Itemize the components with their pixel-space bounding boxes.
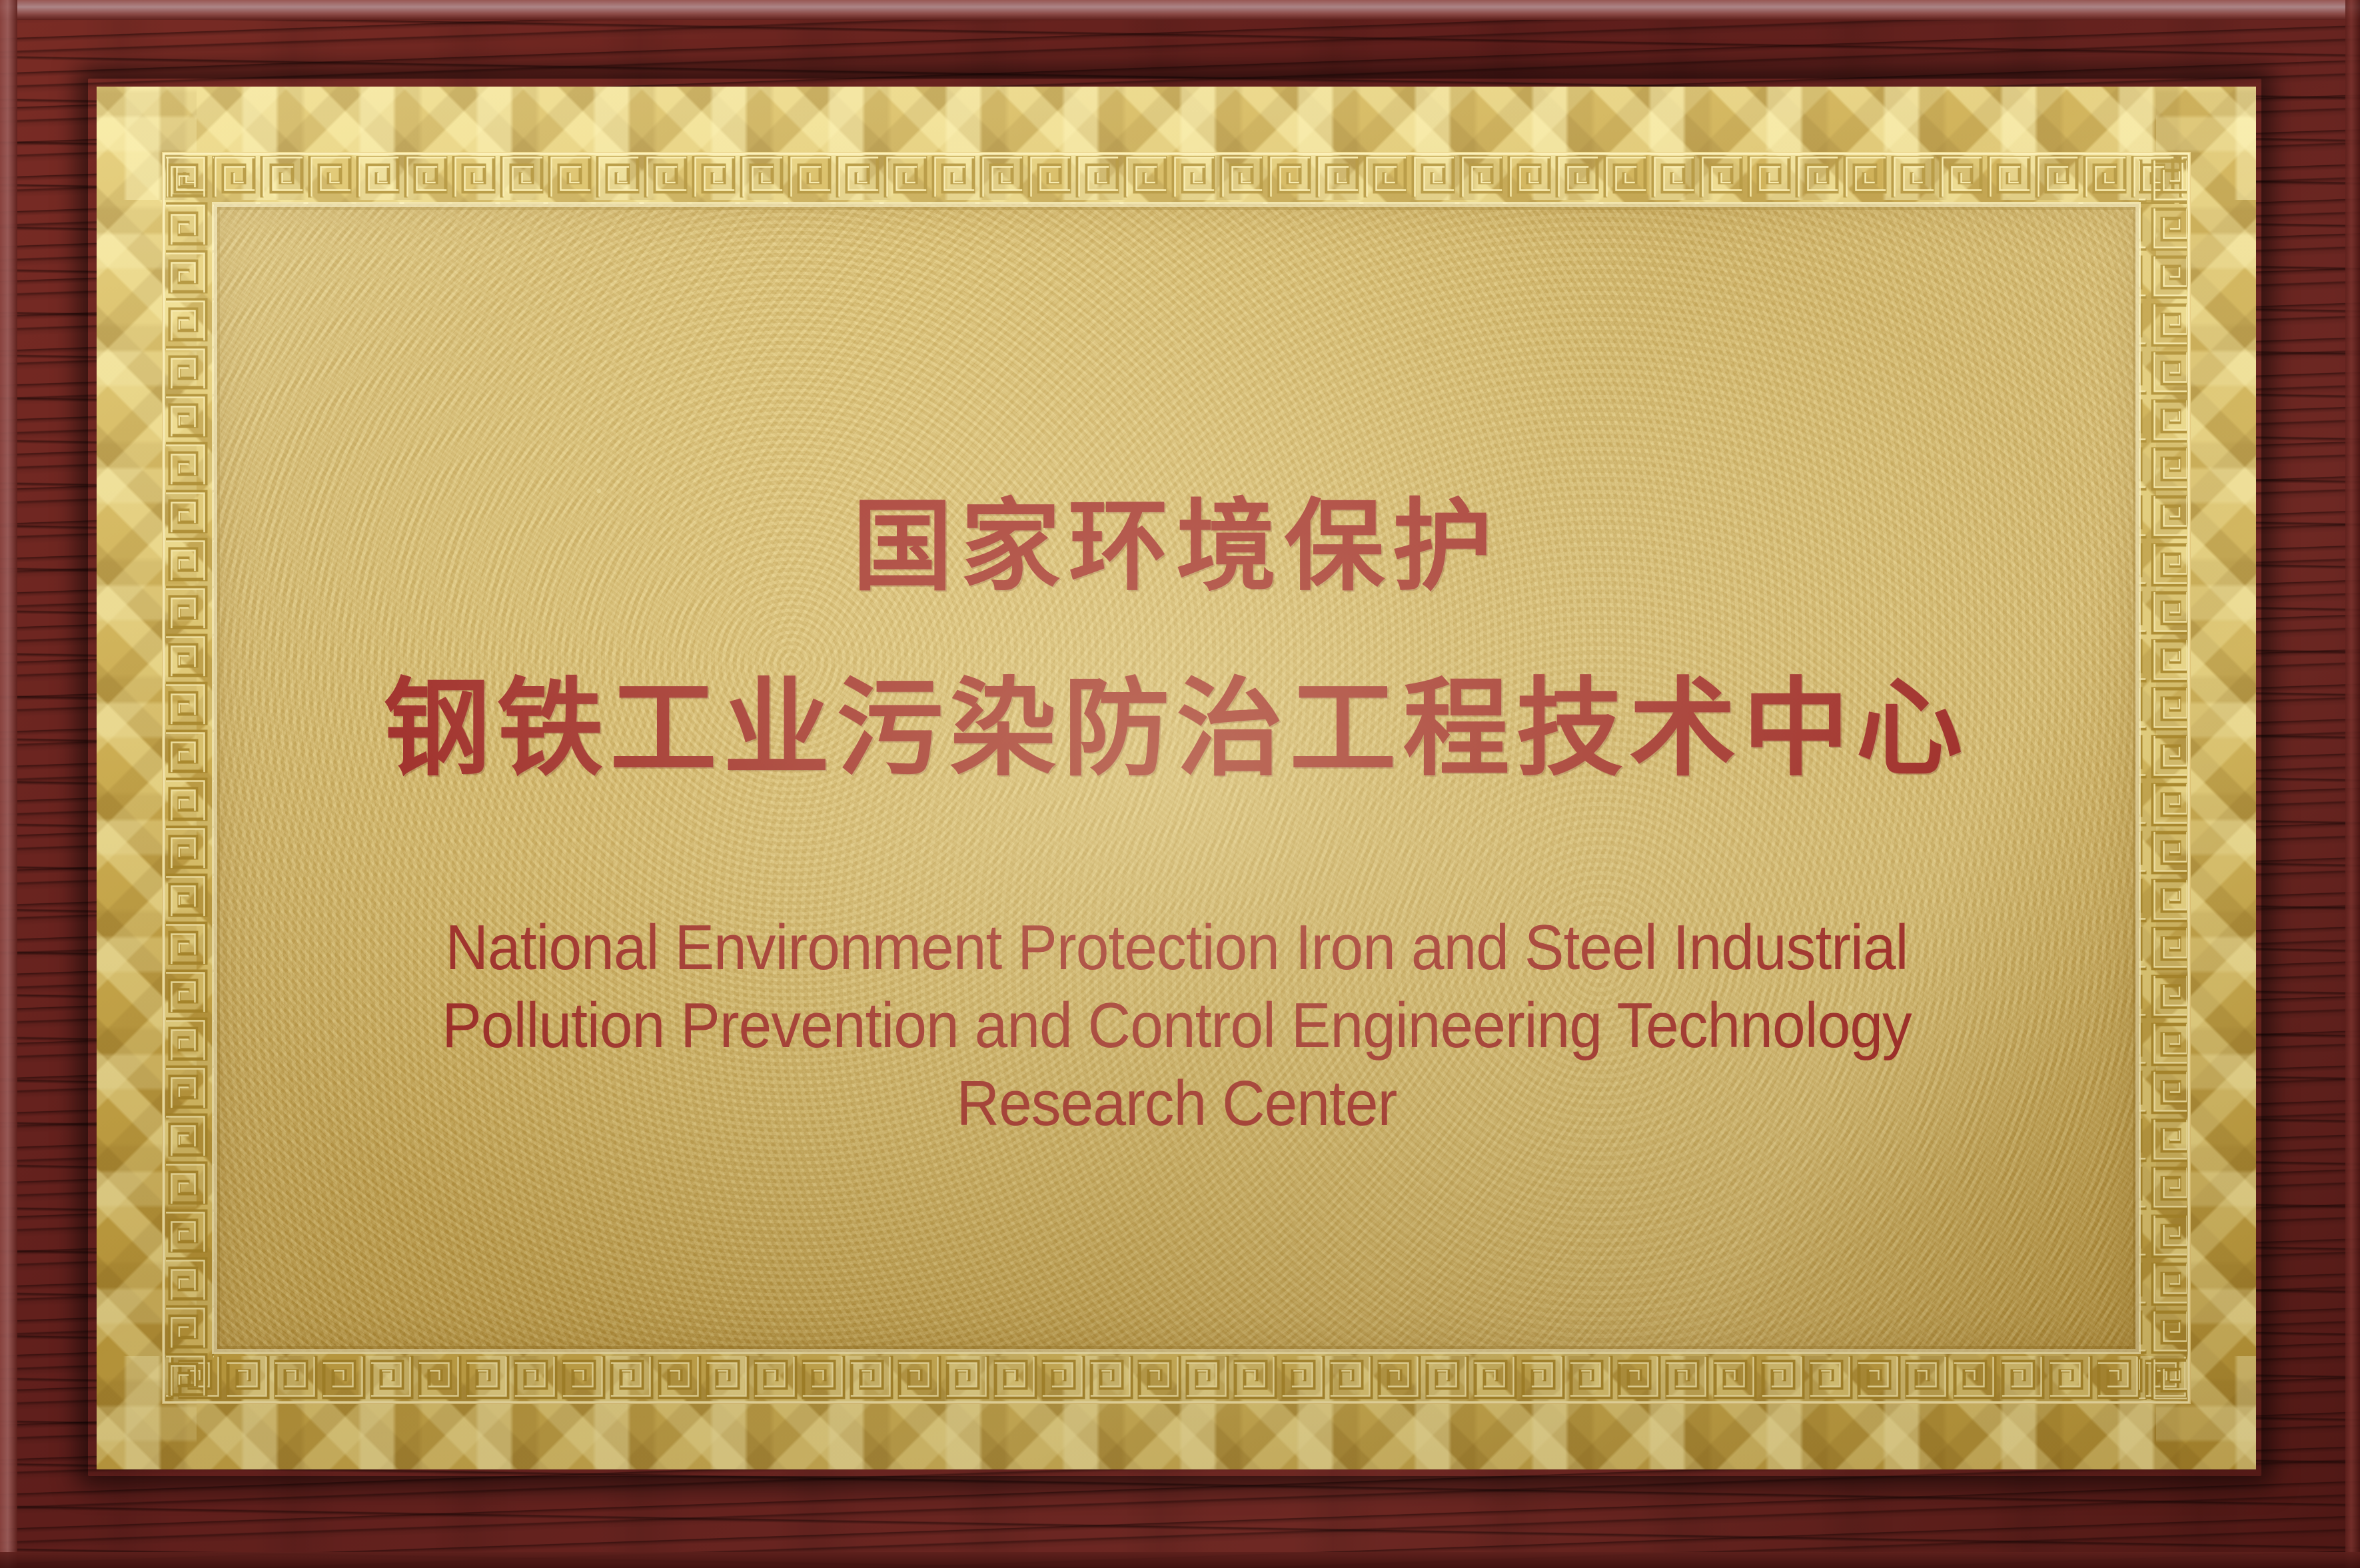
frame-bevel-left (0, 0, 17, 1568)
frame-bevel-top (0, 0, 2360, 20)
award-plaque: 国家环境保护 钢铁工业污染防治工程技术中心 National Environme… (0, 0, 2360, 1568)
gold-plate: 国家环境保护 钢铁工业污染防治工程技术中心 National Environme… (97, 87, 2256, 1469)
english-subtitle-line-2: Pollution Prevention and Control Enginee… (340, 986, 2013, 1064)
plaque-text-block: 国家环境保护 钢铁工业污染防治工程技术中心 National Environme… (214, 204, 2139, 1352)
frame-bevel-right (2345, 0, 2360, 1568)
frame-bevel-bottom (0, 1552, 2360, 1568)
chinese-title-line-1: 国家环境保护 (852, 497, 1500, 597)
chinese-title-line-2: 钢铁工业污染防治工程技术中心 (383, 675, 1969, 782)
english-subtitle-line-1: National Environment Protection Iron and… (340, 909, 2013, 986)
english-subtitle-line-3: Research Center (340, 1064, 2013, 1142)
english-subtitle: National Environment Protection Iron and… (340, 909, 2013, 1142)
